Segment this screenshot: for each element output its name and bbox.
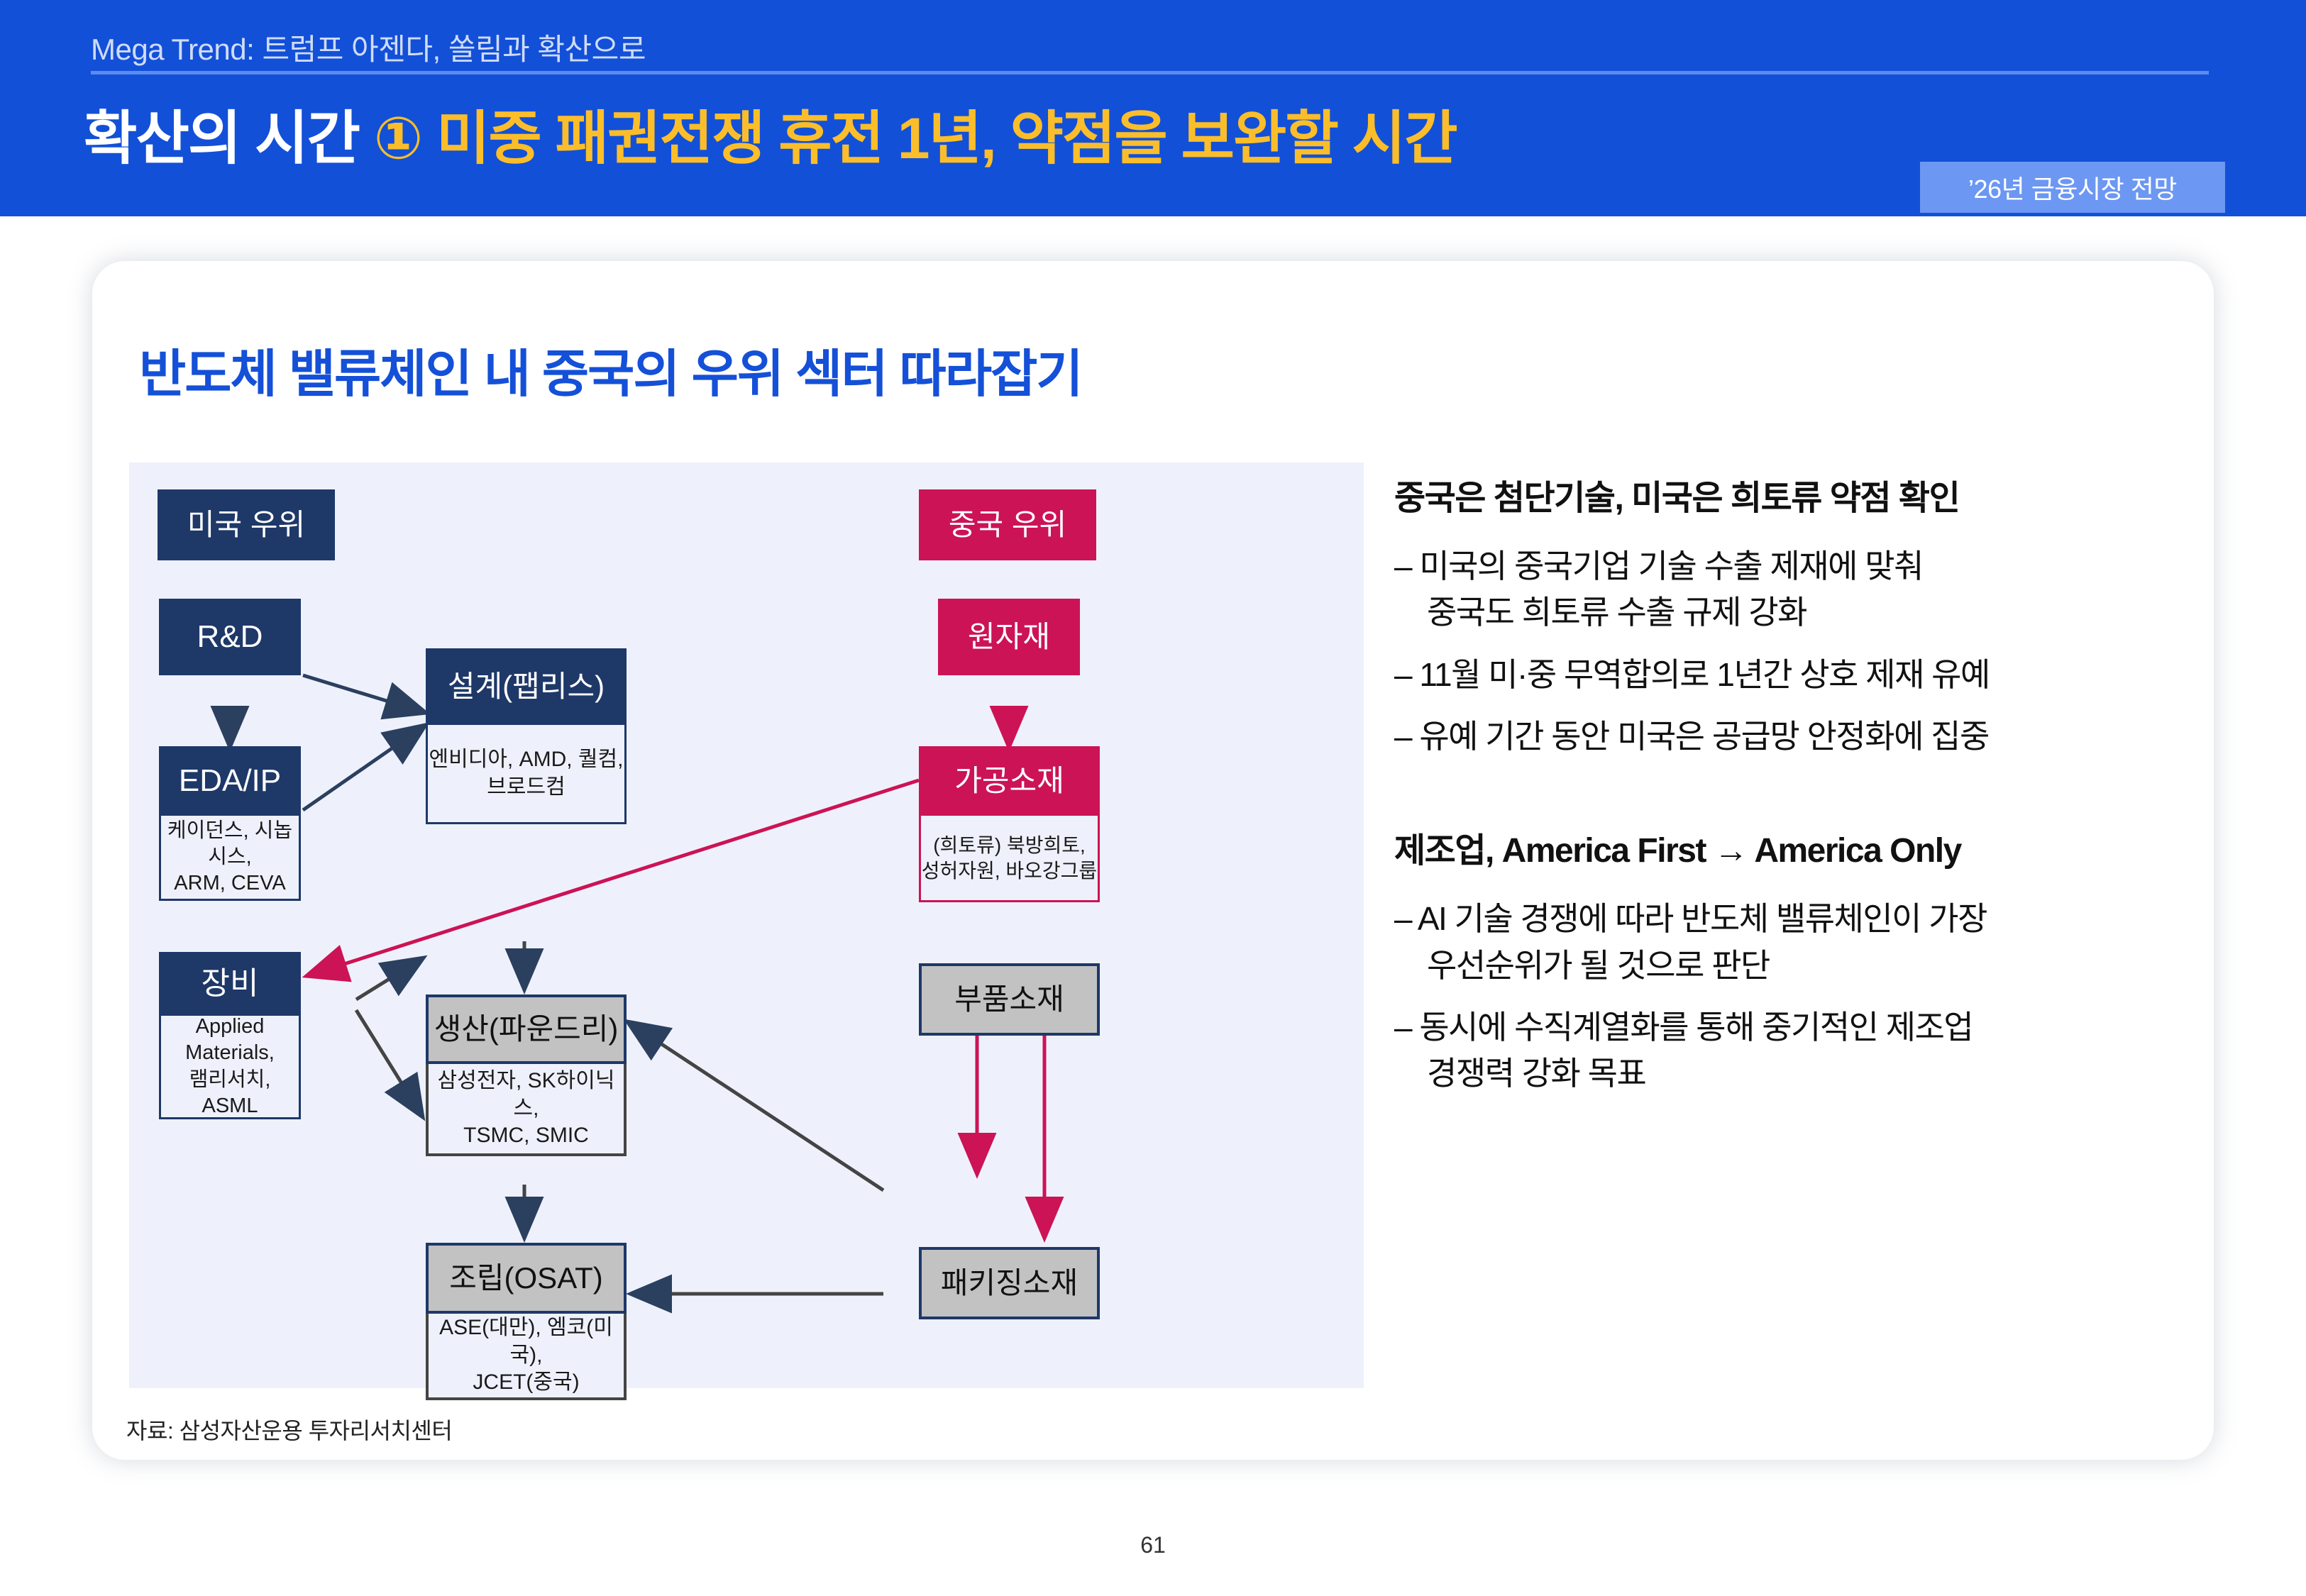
page-number: 61 xyxy=(0,1532,2306,1558)
header-divider xyxy=(91,71,2209,74)
node-parts-material[interactable]: 부품소재 xyxy=(919,963,1100,1036)
edge-rnd-to-design xyxy=(303,675,424,712)
node-foundry[interactable]: 생산(파운드리) 삼성전자, SK하이닉스, TSMC, SMIC xyxy=(426,994,627,1156)
connector-layer xyxy=(129,462,1364,1388)
node-sub: 엔비디아, AMD, 퀄컴, 브로드컴 xyxy=(426,725,627,824)
node-design-fabless[interactable]: 설계(팹리스) 엔비디아, AMD, 퀄컴, 브로드컴 xyxy=(426,648,627,824)
title-accent: ① 미중 패권전쟁 휴전 1년, 약점을 보완할 시간 xyxy=(374,106,1457,171)
bullet-1-2: – 11월 미·중 무역합의로 1년간 상호 제재 유예 xyxy=(1394,652,2189,698)
node-us-legend[interactable]: 미국 우위 xyxy=(158,489,335,560)
node-sub: 케이던스, 시놉시스, ARM, CEVA xyxy=(159,816,301,901)
node-head: 중국 우위 xyxy=(919,489,1096,560)
bullet-lead: – 11월 미·중 무역합의로 1년간 상호 제재 유예 xyxy=(1394,656,1990,693)
node-rnd[interactable]: R&D xyxy=(159,599,301,675)
title-main: 확산의 시간 xyxy=(84,106,374,171)
page-title: 확산의 시간 ① 미중 패권전쟁 휴전 1년, 약점을 보완할 시간 xyxy=(84,91,1457,175)
node-head: 가공소재 xyxy=(919,746,1100,816)
status-badge: ’26년 금융시장 전망 xyxy=(1920,162,2225,213)
value-chain-diagram: 미국 우위 R&D EDA/IP 케이던스, 시놉시스, ARM, CEVA 장… xyxy=(129,462,1364,1388)
bullet-2-1: – AI 기술 경쟁에 따라 반도체 밸류체인이 가장 우선순위가 될 것으로 … xyxy=(1394,896,2189,989)
bullet-cont: 중국도 희토류 수출 규제 강화 xyxy=(1394,589,2189,636)
node-sub: (희토류) 북방희토, 성허자원, 바오강그룹 xyxy=(919,816,1100,902)
source-note: 자료: 삼성자산운용 투자리서치센터 xyxy=(126,1413,452,1446)
node-head: R&D xyxy=(159,599,301,675)
section-heading-1: 중국은 첨단기술, 미국은 희토류 약점 확인 xyxy=(1394,470,2189,519)
node-osat[interactable]: 조립(OSAT) ASE(대만), 엠코(미국), JCET(중국) xyxy=(426,1243,627,1400)
bullet-lead: – AI 기술 경쟁에 따라 반도체 밸류체인이 가장 xyxy=(1394,900,1987,937)
node-head: 미국 우위 xyxy=(158,489,335,560)
edge-parts-to-foundry xyxy=(629,1023,883,1190)
bullet-lead: – 미국의 중국기업 기술 수출 제재에 맞춰 xyxy=(1394,548,1923,584)
node-cn-legend[interactable]: 중국 우위 xyxy=(919,489,1096,560)
bullet-2-2: – 동시에 수직계열화를 통해 중기적인 제조업 경쟁력 강화 목표 xyxy=(1394,1004,2189,1097)
eyebrow-text: Mega Trend: 트럼프 아젠다, 쏠림과 확산으로 xyxy=(91,26,646,69)
node-head: 장비 xyxy=(159,952,301,1016)
edge-equip-to-foundry xyxy=(356,959,421,999)
node-raw-material[interactable]: 원자재 xyxy=(938,599,1080,675)
section-gap xyxy=(1394,775,2189,822)
node-head: EDA/IP xyxy=(159,746,301,816)
bullet-1-3: – 유예 기간 동안 미국은 공급망 안정화에 집중 xyxy=(1394,714,2189,760)
bullet-cont: 우선순위가 될 것으로 판단 xyxy=(1394,943,2189,989)
node-packaging-material[interactable]: 패키징소재 xyxy=(919,1247,1100,1319)
bullet-cont: 경쟁력 강화 목표 xyxy=(1394,1051,2189,1097)
bullet-lead: – 유예 기간 동안 미국은 공급망 안정화에 집중 xyxy=(1394,718,1989,755)
node-equipment[interactable]: 장비 Applied Materials, 램리서치, ASML xyxy=(159,952,301,1119)
edge-equip-to-osat xyxy=(356,1010,421,1115)
node-head: 원자재 xyxy=(938,599,1080,675)
section-heading-2: 제조업, America First → America Only xyxy=(1394,822,2189,872)
node-sub: 삼성전자, SK하이닉스, TSMC, SMIC xyxy=(426,1064,627,1156)
node-sub: ASE(대만), 엠코(미국), JCET(중국) xyxy=(426,1314,627,1400)
node-processed-material[interactable]: 가공소재 (희토류) 북방희토, 성허자원, 바오강그룹 xyxy=(919,746,1100,902)
node-head: 설계(팹리스) xyxy=(426,648,627,725)
edge-eda-to-design xyxy=(303,726,424,810)
slide-header: Mega Trend: 트럼프 아젠다, 쏠림과 확산으로 확산의 시간 ① 미… xyxy=(0,0,2306,216)
card-title: 반도체 밸류체인 내 중국의 우위 섹터 따라잡기 xyxy=(139,332,1082,406)
bullet-1-1: – 미국의 중국기업 기술 수출 제재에 맞춰 중국도 희토류 수출 규제 강화 xyxy=(1394,543,2189,636)
node-head: 조립(OSAT) xyxy=(426,1243,627,1314)
node-head: 부품소재 xyxy=(919,963,1100,1036)
node-eda-ip[interactable]: EDA/IP 케이던스, 시놉시스, ARM, CEVA xyxy=(159,746,301,901)
node-head: 패키징소재 xyxy=(919,1247,1100,1319)
node-head: 생산(파운드리) xyxy=(426,994,627,1064)
bullet-lead: – 동시에 수직계열화를 통해 중기적인 제조업 xyxy=(1394,1009,1973,1046)
commentary-pane: 중국은 첨단기술, 미국은 희토류 약점 확인 – 미국의 중국기업 기술 수출… xyxy=(1394,470,2189,1113)
node-sub: Applied Materials, 램리서치, ASML xyxy=(159,1016,301,1119)
